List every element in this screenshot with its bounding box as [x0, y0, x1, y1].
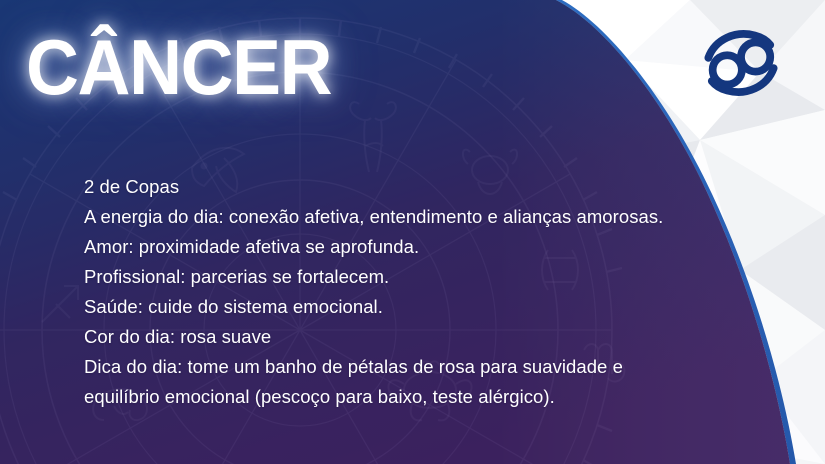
line-card-draw: 2 de Copas: [84, 172, 694, 202]
line-saude: Saúde: cuide do sistema emocional.: [84, 292, 694, 322]
line-profissional: Profissional: parcerias se fortalecem.: [84, 262, 694, 292]
horoscope-text: 2 de Copas A energia do dia: conexão afe…: [84, 172, 694, 412]
line-energia-do-dia: A energia do dia: conexão afetiva, enten…: [84, 202, 694, 232]
page-title: CÂNCER: [26, 26, 331, 108]
horoscope-card: CÂNCER 2 de Copas A energia do dia: cone…: [0, 0, 825, 464]
line-dica-do-dia: Dica do dia: tome um banho de pétalas de…: [84, 352, 694, 412]
cancer-zodiac-glyph: [698, 20, 784, 106]
line-amor: Amor: proximidade afetiva se aprofunda.: [84, 232, 694, 262]
line-cor-do-dia: Cor do dia: rosa suave: [84, 322, 694, 352]
